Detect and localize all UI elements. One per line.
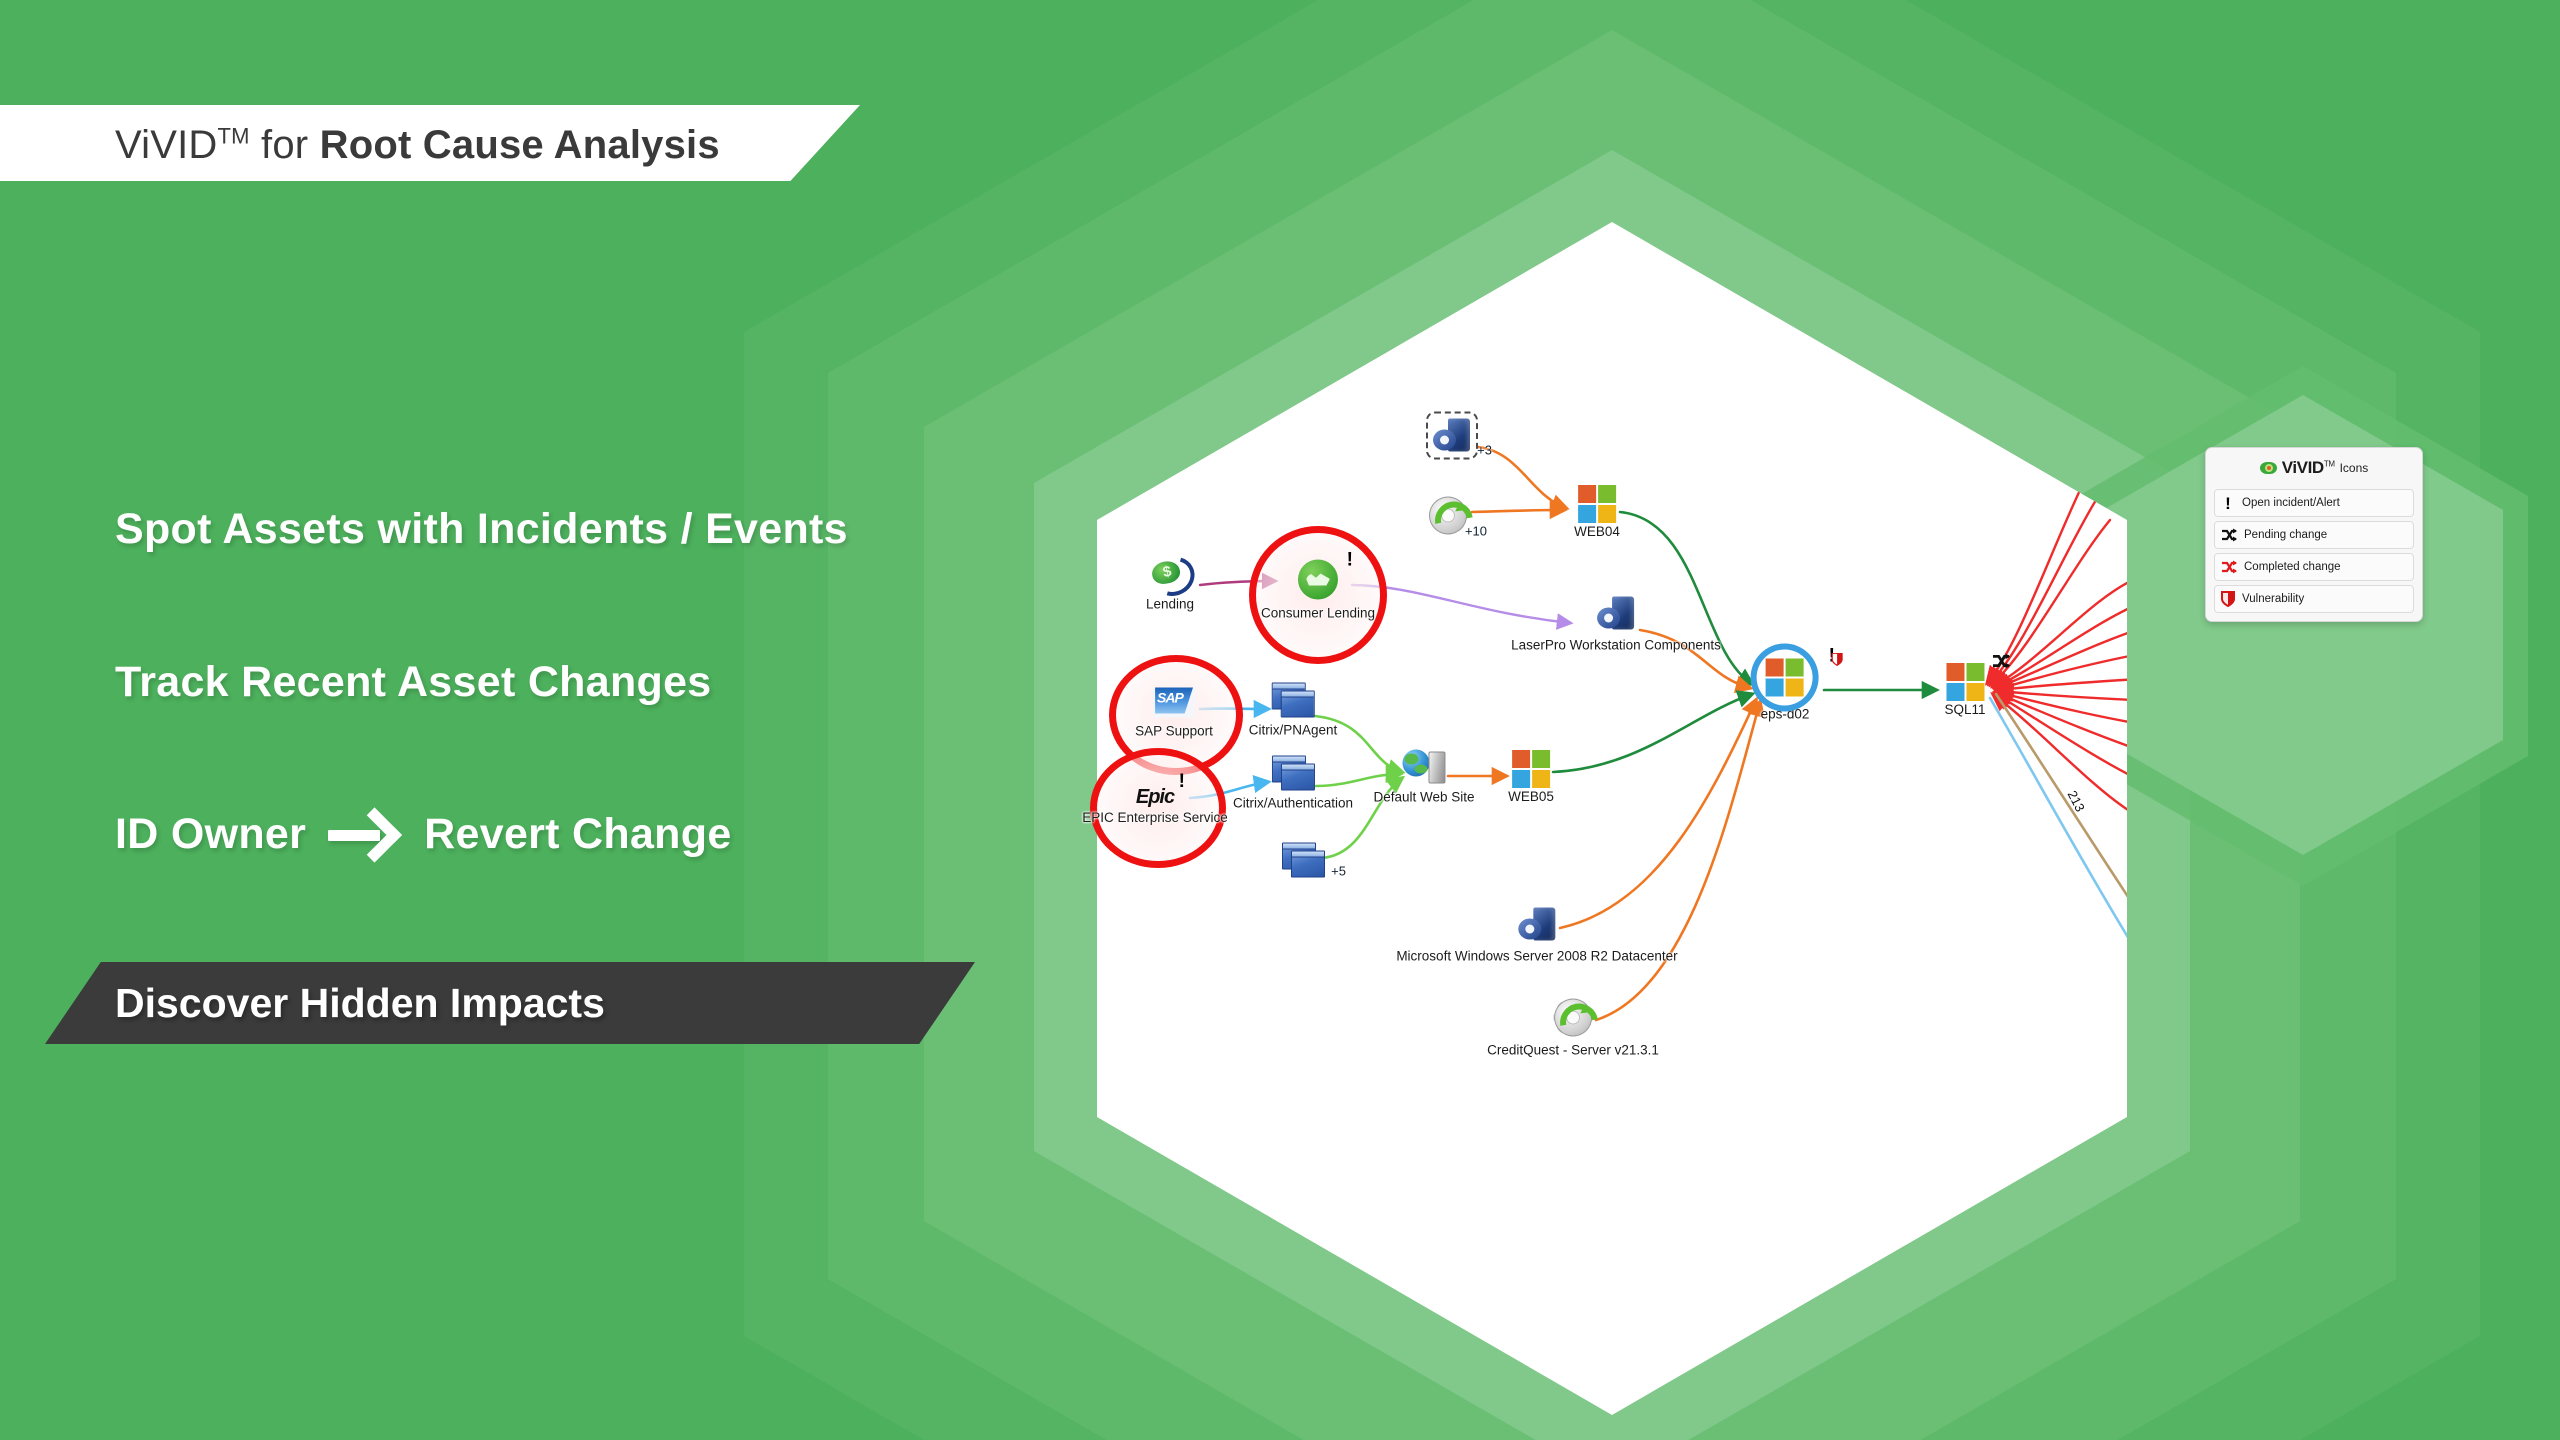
node-label-citrix-pnagent: Citrix/PNAgent: [1249, 723, 1338, 738]
legend-panel: ViVIDTM Icons ! Open incident/Alert Pend…: [2205, 447, 2423, 622]
bullet-track-changes: Track Recent Asset Changes: [115, 658, 712, 707]
windows-logo-icon: !: [1766, 659, 1804, 697]
windows-logo-icon: [1512, 750, 1550, 788]
legend-brand-suffix: Icons: [2340, 461, 2369, 475]
right-arrow-icon: [328, 814, 402, 856]
bullet-id-owner-revert: ID Owner Revert Change: [115, 810, 732, 859]
legend-label-pending-change: Pending change: [2244, 529, 2327, 541]
node-count-badge: +5: [1331, 864, 1346, 879]
node-count-badge: +10: [1465, 524, 1487, 539]
database-icon: [1596, 596, 1636, 632]
swap-icon-completed: [2221, 560, 2237, 574]
title-trademark: TM: [218, 124, 250, 149]
legend-label-vulnerability: Vulnerability: [2242, 593, 2304, 605]
node-citrix-authentication[interactable]: Citrix/Authentication: [1233, 756, 1353, 811]
node-ms-windows-server-2008[interactable]: Microsoft Windows Server 2008 R2 Datacen…: [1396, 907, 1677, 964]
database-icon: [1517, 907, 1557, 943]
node-label-default-web-site: Default Web Site: [1373, 790, 1474, 805]
node-label-eps-d02: eps-d02: [1761, 707, 1810, 722]
node-label-sap-support: SAP Support: [1135, 724, 1213, 739]
node-laserpro[interactable]: LaserPro Workstation Components: [1511, 596, 1721, 653]
legend-brand: ViVIDTM: [2282, 458, 2335, 478]
node-count-badge: +3: [1477, 443, 1492, 458]
title-brand: ViVID: [115, 123, 218, 167]
node-web05[interactable]: WEB05: [1508, 750, 1554, 804]
bullet-spot-assets: Spot Assets with Incidents / Events: [115, 505, 848, 554]
window-stack-icon: [1272, 756, 1314, 790]
node-gear-group-10[interactable]: +10: [1429, 497, 1467, 540]
gear-refresh-icon: +10: [1429, 497, 1467, 535]
bullet-revert-change-label: Revert Change: [424, 810, 731, 859]
node-epic-enterprise-service[interactable]: Epic ! EPIC Enterprise Service: [1082, 785, 1228, 825]
window-stack-icon: +5: [1282, 843, 1324, 877]
exclamation-icon: !: [2221, 495, 2235, 512]
node-citrix-pnagent[interactable]: Citrix/PNAgent: [1249, 683, 1338, 738]
epic-icon: Epic !: [1129, 785, 1181, 809]
title-subject: Root Cause Analysis: [320, 123, 720, 167]
database-icon: +3: [1432, 418, 1472, 454]
legend-label-open-incident: Open incident/Alert: [2242, 497, 2340, 509]
windows-logo-icon: [1578, 485, 1616, 523]
node-consumer-lending[interactable]: ! Consumer Lending: [1261, 560, 1375, 621]
node-label-consumer-lending: Consumer Lending: [1261, 606, 1375, 621]
vivid-eye-icon: [2260, 462, 2277, 474]
legend-row-vulnerability[interactable]: Vulnerability: [2214, 585, 2414, 613]
node-window-stack-group-5[interactable]: +5: [1282, 843, 1324, 882]
legend-title: ViVIDTM Icons: [2214, 455, 2414, 485]
node-label-creditquest: CreditQuest - Server v21.3.1: [1487, 1043, 1659, 1058]
gear-refresh-icon: [1554, 999, 1592, 1037]
shield-icon: [2221, 591, 2235, 607]
exclamation-icon: !: [1347, 551, 1353, 570]
bullet-id-owner-label: ID Owner: [115, 810, 306, 859]
swap-icon: [2221, 528, 2237, 542]
legend-label-completed-change: Completed change: [2244, 561, 2341, 573]
slide-root: ViVIDTM for Root Cause Analysis Spot Ass…: [0, 0, 2560, 1440]
node-lending[interactable]: $ Lending: [1146, 559, 1194, 612]
money-icon: $: [1151, 559, 1189, 591]
node-default-web-site[interactable]: Default Web Site: [1373, 748, 1474, 805]
node-database-group-3[interactable]: +3: [1432, 418, 1472, 459]
discover-banner-label: Discover Hidden Impacts: [115, 980, 605, 1027]
node-label-laserpro: LaserPro Workstation Components: [1511, 638, 1721, 653]
page-title: ViVIDTM for Root Cause Analysis: [115, 123, 720, 168]
legend-row-completed-change[interactable]: Completed change: [2214, 553, 2414, 581]
node-eps-d02[interactable]: ! eps-d02: [1761, 659, 1810, 722]
node-label-sql11: SQL11: [1944, 702, 1985, 717]
node-creditquest[interactable]: CreditQuest - Server v21.3.1: [1487, 999, 1659, 1058]
window-stack-icon: [1272, 683, 1314, 717]
service-circle-icon: !: [1298, 560, 1338, 600]
swap-icon: [1991, 653, 2010, 674]
node-label-citrix-authentication: Citrix/Authentication: [1233, 796, 1353, 811]
node-label-web04: WEB04: [1574, 524, 1620, 539]
legend-row-pending-change[interactable]: Pending change: [2214, 521, 2414, 549]
shield-icon: [1831, 652, 1844, 673]
node-sap-support[interactable]: SAP SAP Support: [1135, 688, 1213, 739]
node-label-epic: EPIC Enterprise Service: [1082, 810, 1228, 825]
title-connector: for: [250, 123, 320, 167]
node-label-lending: Lending: [1146, 597, 1194, 612]
sap-icon: SAP: [1153, 688, 1195, 718]
exclamation-icon: !: [1179, 772, 1185, 791]
node-web04[interactable]: WEB04: [1574, 485, 1620, 539]
legend-row-open-incident[interactable]: ! Open incident/Alert: [2214, 489, 2414, 517]
windows-logo-icon: [1946, 663, 1984, 701]
web-globe-icon: [1402, 748, 1446, 784]
node-label-web05: WEB05: [1508, 789, 1554, 804]
node-sql11[interactable]: SQL11: [1944, 663, 1985, 717]
node-label-ms-windows-server: Microsoft Windows Server 2008 R2 Datacen…: [1396, 949, 1677, 964]
